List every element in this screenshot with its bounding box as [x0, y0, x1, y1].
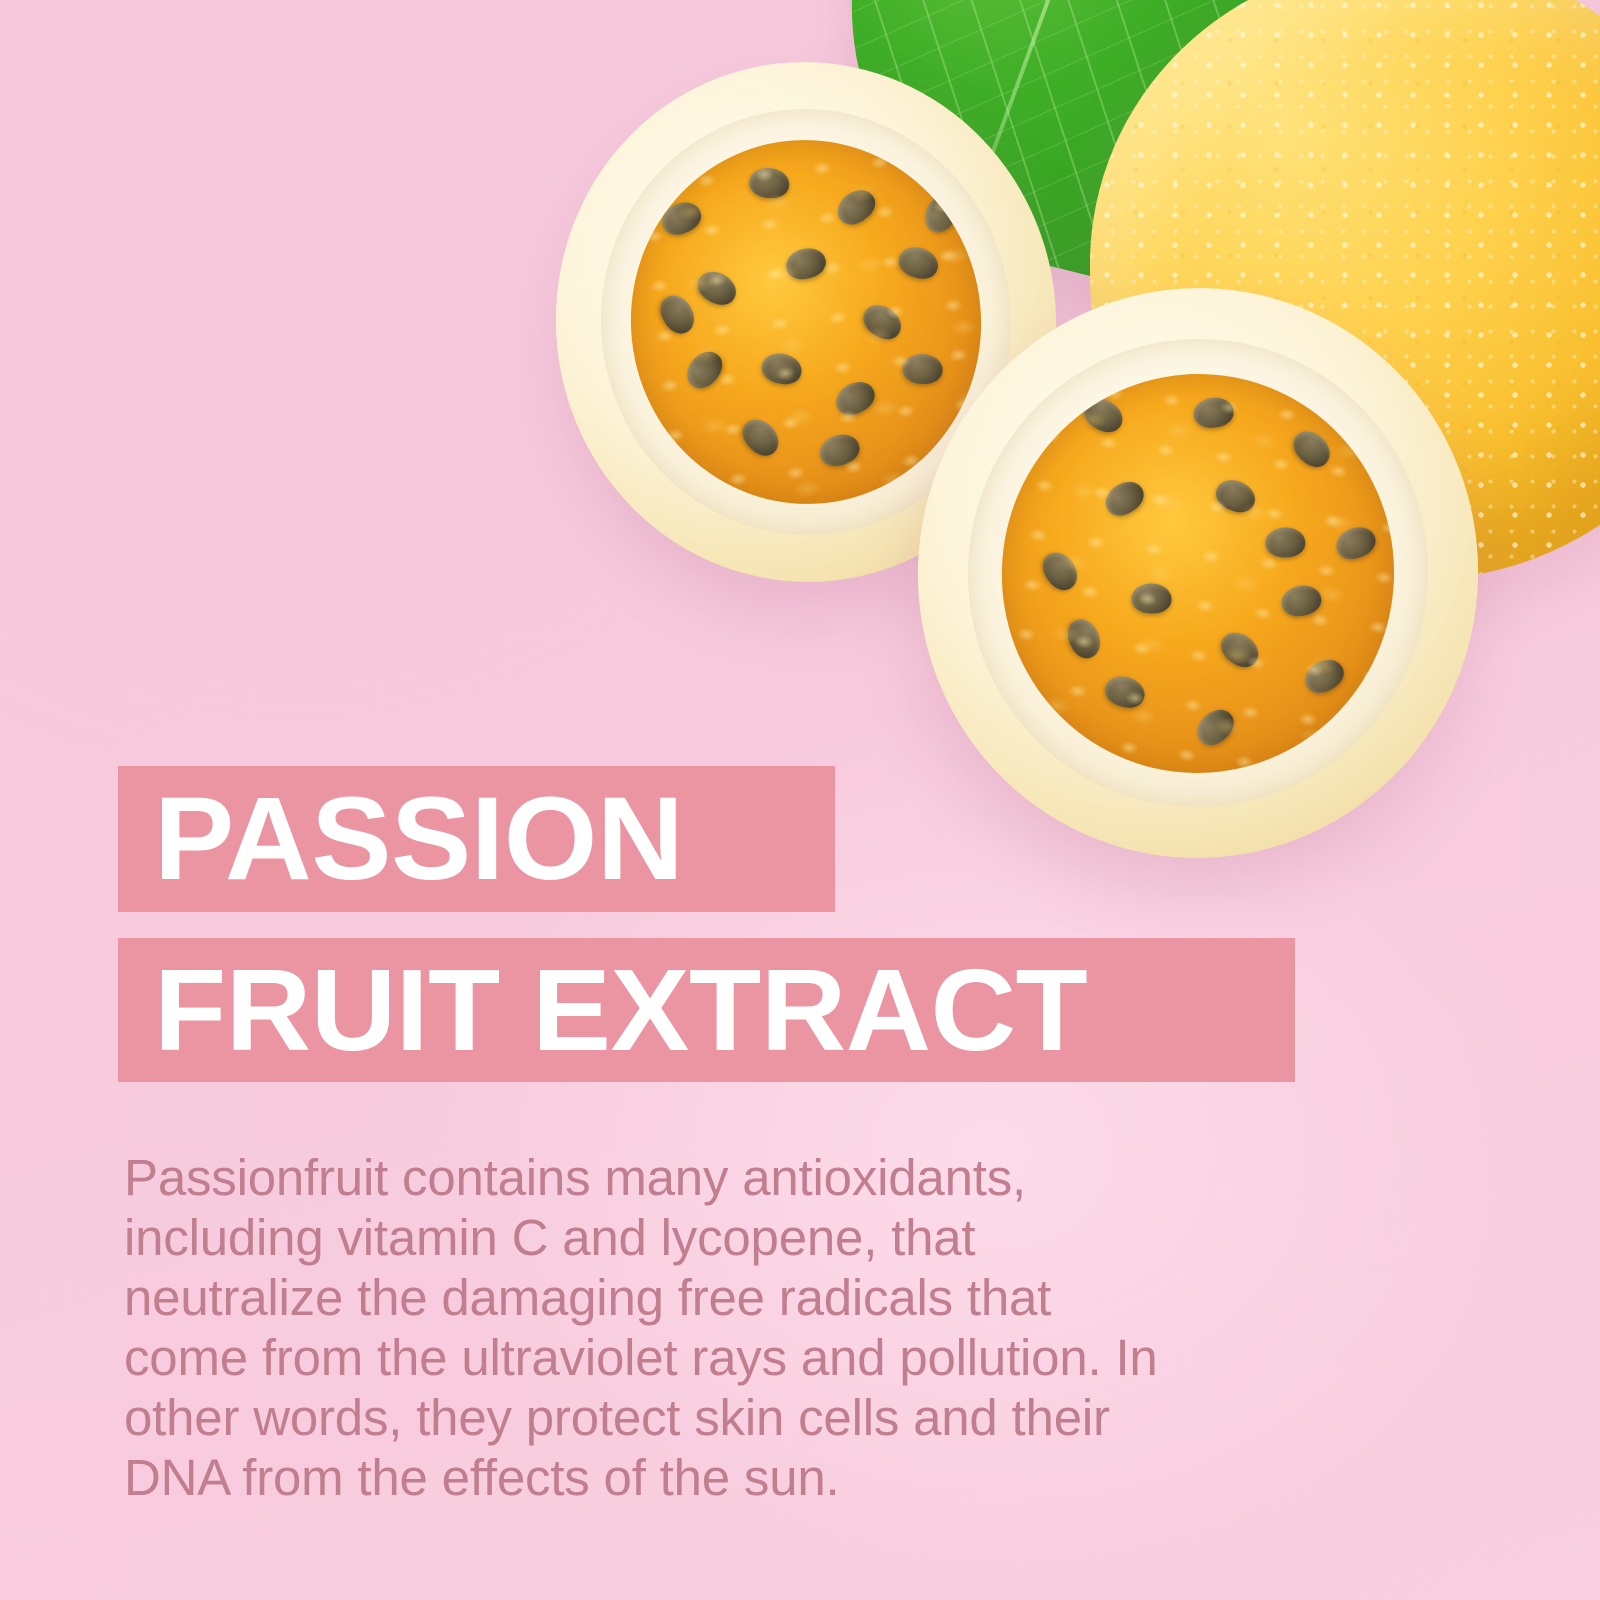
title-bar-line-2: FRUIT EXTRACT	[118, 938, 1295, 1082]
title-bar-line-1: PASSION	[118, 766, 835, 912]
body-paragraph: Passionfruit contains many antioxidants,…	[124, 1148, 1364, 1508]
passion-fruit-extract-poster: PASSION FRUIT EXTRACT Passionfruit conta…	[0, 0, 1600, 1600]
page-title-line-1: PASSION	[154, 780, 683, 898]
text-content: PASSION FRUIT EXTRACT Passionfruit conta…	[0, 0, 1600, 1600]
page-title-line-2: FRUIT EXTRACT	[154, 952, 1087, 1068]
